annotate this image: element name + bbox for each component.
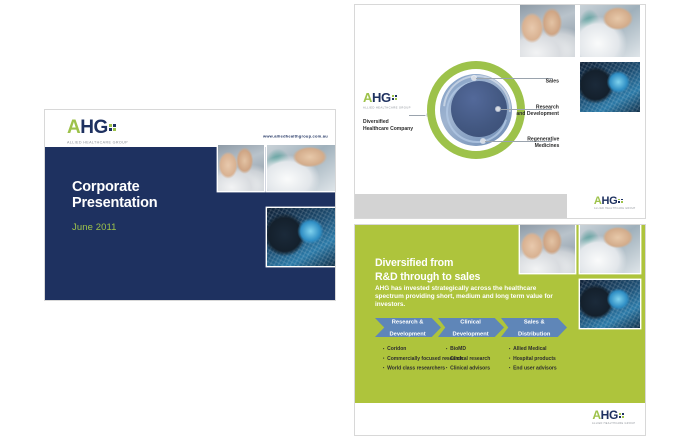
photo-researcher-goggles [267, 145, 335, 191]
logo-square-top-right [395, 95, 397, 97]
logo-square-top [109, 124, 112, 127]
logo-letter-g: G [609, 409, 618, 421]
logo-square-top-right [621, 199, 623, 201]
callout-rd-line1: Research [516, 104, 559, 111]
diagram-ahg-logo: AHG ALLIED HEALTHCARE GROUP [363, 91, 423, 113]
list-item: End user advisors [509, 365, 611, 373]
logo-letter-g: G [381, 91, 391, 104]
logo-square-bottom [619, 416, 621, 418]
cover-title-line1: Corporate [72, 180, 157, 196]
list-item: Hospital products [509, 355, 611, 363]
logo-letter-a: A [592, 409, 600, 421]
chevron-cd-line2: Development [453, 330, 489, 337]
chevron-rd-line2: Development [390, 330, 426, 337]
logo-square-top [392, 95, 394, 97]
process-chevrons: Research & Development Clinical Developm… [375, 318, 565, 337]
logo-letter-h: H [601, 409, 609, 421]
logo-square-bottom [109, 128, 112, 131]
logo-square-bottom-right [622, 416, 624, 418]
bullets-sales-distribution: Allied Medical Hospital products End use… [503, 345, 611, 375]
diagram-circle [427, 61, 525, 159]
callout-rd-line2: and Development [516, 110, 559, 117]
diagram-center-label-line1: Diversified [363, 118, 413, 125]
logo-square-bottom-right [395, 98, 397, 100]
callout-rm-line2: Medicines [527, 142, 559, 149]
logo-letter-g: G [609, 196, 617, 207]
diagram-center-label-line2: Healthcare Company [363, 125, 413, 132]
chevron-clinical-development[interactable]: Clinical Development [438, 318, 504, 337]
logo-tagline: ALLIED HEALTHCARE GROUP [594, 208, 636, 210]
logo-tagline: ALLIED HEALTHCARE GROUP [592, 423, 635, 425]
logo-square-bottom [392, 98, 394, 100]
green-slide-title: Diversified from R&D through to sales [375, 257, 480, 284]
photo-two-scientists-lab [520, 5, 575, 57]
photo-researcher-goggles [580, 5, 640, 57]
photo-gloved-hand-blue-tech [580, 280, 640, 328]
green-title-line2: R&D through to sales [375, 271, 480, 285]
logo-square-top-right [113, 124, 116, 127]
callout-research-and-development: Research and Development [516, 104, 559, 117]
photo-two-scientists-lab [218, 145, 264, 191]
green-title-line1: Diversified from [375, 257, 480, 271]
chevron-sd-line2: Distribution [518, 330, 550, 337]
callout-regenerative-medicines: Regenerative Medicines [527, 136, 559, 149]
logo-letter-h: H [372, 91, 381, 104]
logo-letter-a: A [363, 91, 372, 104]
photo-two-scientists-lab [520, 225, 575, 273]
photo-gloved-hand-blue-tech [580, 62, 640, 112]
logo-letter-a: A [594, 196, 602, 207]
logo-letter-g: G [93, 118, 107, 137]
cover-ahg-logo: AHG ALLIED HEALTHCARE GROUP [67, 118, 119, 148]
callout-rm-line1: Regenerative [527, 136, 559, 143]
list-item: Allied Medical [509, 345, 611, 353]
logo-letter-h: H [601, 196, 609, 207]
chevron-cd-line1: Clinical [453, 318, 489, 325]
chevron-sd-line1: Sales & [518, 318, 550, 325]
green-footer-ahg-logo: AHG ALLIED HEALTHCARE GROUP [592, 409, 631, 429]
logo-square-bottom [618, 201, 620, 203]
slide-cover[interactable]: AHG ALLIED HEALTHCARE GROUP www.alliedhe… [45, 110, 335, 300]
logo-letter-a: A [67, 118, 80, 137]
logo-tagline: ALLIED HEALTHCARE GROUP [363, 106, 411, 109]
photo-gloved-hand-blue-tech [267, 208, 335, 266]
diagram-center-label: Diversified Healthcare Company [363, 118, 413, 131]
photo-researcher-goggles [580, 225, 640, 273]
logo-square-top [619, 413, 621, 415]
logo-square-bottom-right [621, 201, 623, 203]
chevron-research-development[interactable]: Research & Development [375, 318, 441, 337]
leader-line-sales [476, 78, 552, 79]
logo-square-top-right [622, 413, 624, 415]
cover-title-line2: Presentation [72, 196, 157, 212]
green-slide-body: AHG has invested strategically across th… [375, 285, 555, 310]
cover-title: Corporate Presentation [72, 180, 157, 211]
logo-square-top [618, 199, 620, 201]
diagram-footer-ahg-logo: AHG ALLIED HEALTHCARE GROUP [594, 196, 631, 215]
chevron-rd-line1: Research & [390, 318, 426, 325]
logo-square-bottom-right [113, 128, 116, 131]
logo-tagline: ALLIED HEALTHCARE GROUP [67, 140, 128, 145]
cover-date: June 2011 [72, 222, 117, 233]
callout-sales: Sales [546, 77, 559, 84]
slide-diagram[interactable]: AHG ALLIED HEALTHCARE GROUP Diversified … [355, 5, 645, 218]
slide-green[interactable]: Diversified from R&D through to sales AH… [355, 225, 645, 435]
cover-website-url[interactable]: www.alliedhealthgroup.com.au [263, 134, 328, 139]
chevron-sales-distribution[interactable]: Sales & Distribution [501, 318, 567, 337]
logo-letter-h: H [80, 118, 93, 137]
